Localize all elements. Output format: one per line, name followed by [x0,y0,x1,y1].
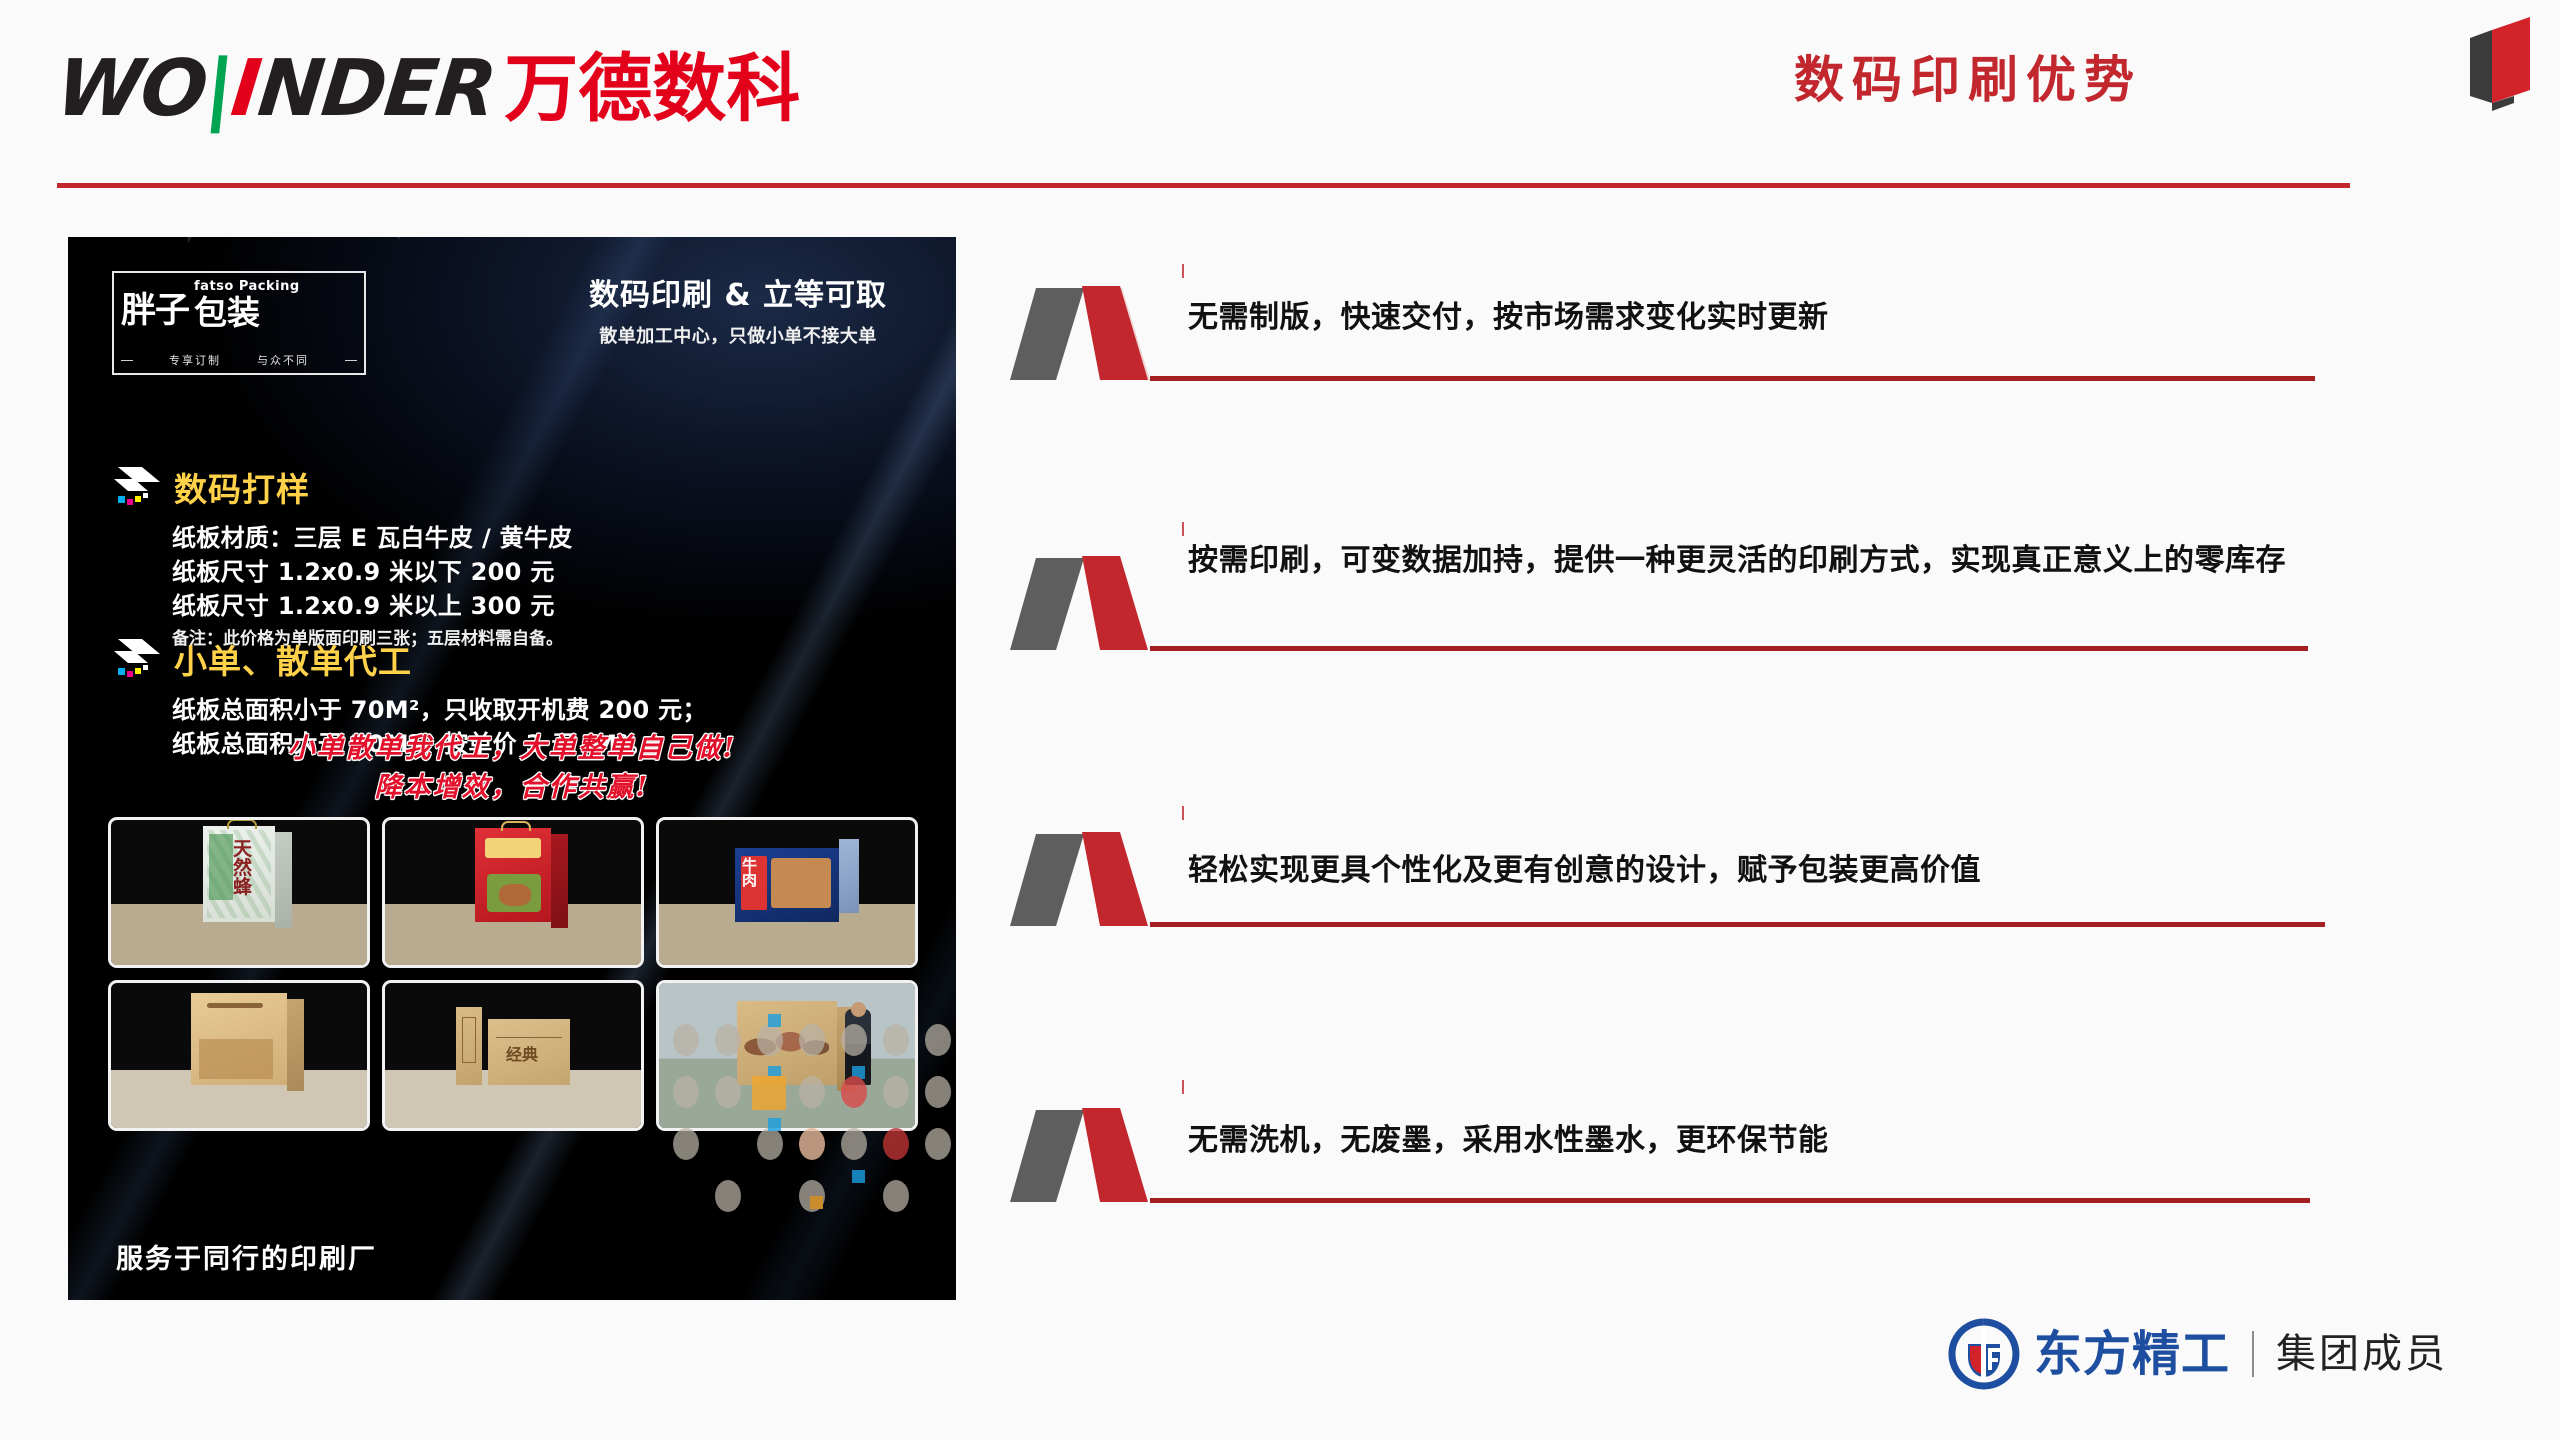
group-logo-divider [2252,1331,2254,1377]
poster-section-1-line-3: 纸板尺寸 1.2x0.9 米以上 300 元 [172,589,912,623]
poster-slogan-line-1: 小单散单我代工，大单整单自己做! [112,729,912,768]
gallery-item: 经典 [382,980,644,1131]
chevron-arrow-icon [112,637,168,685]
fatso-logo-cn-right: 包装 [194,296,300,329]
poster-section-2-title: 小单、散单代工 [174,645,412,678]
group-logo: 东方精工 集团成员 [1948,1318,2448,1390]
poster-slogan-line-2: 降本增效，合作共赢! [112,768,912,807]
advantage-item[interactable]: 无需制版，快速交付，按市场需求变化实时更新 [1010,250,2410,430]
poster-section-1-line-1: 纸板材质：三层 E 瓦白牛皮 / 黄牛皮 [172,521,912,555]
gallery-item [382,817,644,968]
poster-section-1-header: 数码打样 [112,465,912,513]
poster-section-1-line-2: 纸板尺寸 1.2x0.9 米以下 200 元 [172,555,912,589]
gallery-item [108,980,370,1131]
page-title: 数码印刷优势 [1794,40,2142,112]
brand-logo-inner: WO|INDER 万德数科 [57,50,800,128]
poster-headline-block: 数码印刷 & 立等可取 散单加工中心，只做小单不接大单 [538,279,938,348]
poster-subheadline: 散单加工中心，只做小单不接大单 [538,322,938,348]
bullet-tick [1182,522,1184,536]
brand-logo: WO|INDER 万德数科 [57,28,817,148]
advantage-underline [1150,1198,2310,1203]
poster-footer-text: 服务于同行的印刷厂 [116,1237,377,1276]
dfjg-emblem-icon [1948,1318,2020,1390]
poster-section-2-header: 小单、散单代工 [112,637,912,685]
dot-pattern-decoration [656,1000,956,1300]
advantage-underline [1150,646,2308,651]
advantage-text: 无需洗机，无废墨，采用水性墨水，更环保节能 [1188,1118,2368,1163]
advantage-underline [1150,922,2325,927]
book-mark-icon [2452,8,2538,123]
poster-slogan: 小单散单我代工，大单整单自己做! 降本增效，合作共赢! [112,729,912,807]
fatso-logo-row: 胖子 fatso Packing 包装 [114,273,364,329]
slide-root: WO|INDER 万德数科 数码印刷优势 胖子 fatso Packing 包装… [0,0,2560,1440]
poster-section-2-line-1: 纸板总面积小于 70M²，只收取开机费 200 元； [172,693,912,727]
fatso-logo-en: fatso Packing [194,280,300,293]
product-box: 牛肉 [735,848,839,922]
double-slash-bullet-icon [1010,830,1158,930]
poster-headline: 数码印刷 & 立等可取 [538,279,938,312]
brand-wordmark-en: WO|INDER [53,50,498,128]
fatso-tagline-right: 与众不同 [257,352,309,368]
bullet-tick [1182,264,1184,278]
advantage-text: 轻松实现更具个性化及更有创意的设计，赋予包装更高价值 [1188,848,2368,893]
gallery-item: 天然蜂 [108,817,370,968]
fatso-tagline-left: 专享订制 [169,352,221,368]
bullet-tick [1182,1080,1184,1094]
fatso-logo-tagline: 专享订制 与众不同 [121,352,357,368]
double-slash-bullet-icon [1010,1106,1158,1206]
fatso-logo: 胖子 fatso Packing 包装 专享订制 与众不同 [112,271,366,375]
header-divider [57,183,2350,188]
bullet-tick [1182,806,1184,820]
fatso-logo-right: fatso Packing 包装 [194,280,300,329]
advantage-text: 按需印刷，可变数据加持，提供一种更灵活的印刷方式，实现真正意义上的零库存 [1188,538,2368,583]
poster-section-1: 数码打样 纸板材质：三层 E 瓦白牛皮 / 黄牛皮 纸板尺寸 1.2x0.9 米… [112,465,912,653]
advantage-item[interactable]: 轻松实现更具个性化及更有创意的设计，赋予包装更高价值 [1010,830,2410,1010]
group-logo-member: 集团成员 [2276,1334,2448,1374]
advantage-item[interactable]: 按需印刷，可变数据加持，提供一种更灵活的印刷方式，实现真正意义上的零库存 [1010,512,2410,732]
brand-wordmark-cn: 万德数科 [504,52,800,126]
product-box [191,993,287,1085]
poster-section-1-title: 数码打样 [174,473,310,506]
chevron-arrow-icon [112,465,168,513]
fatso-logo-cn-left: 胖子 [121,294,189,329]
advantage-item[interactable]: 无需洗机，无废墨，采用水性墨水，更环保节能 [1010,1060,2410,1250]
group-logo-name: 东方精工 [2034,1330,2230,1378]
double-slash-bullet-icon [1010,284,1158,384]
gallery-row-1: 天然蜂 [108,817,918,968]
promo-poster: 胖子 fatso Packing 包装 专享订制 与众不同 数码印刷 & 立等可… [68,237,956,1300]
poster-section-1-body: 纸板材质：三层 E 瓦白牛皮 / 黄牛皮 纸板尺寸 1.2x0.9 米以下 20… [172,521,912,653]
gallery-item: 牛肉 [656,817,918,968]
double-slash-bullet-icon [1010,554,1158,654]
advantage-text: 无需制版，快速交付，按市场需求变化实时更新 [1188,295,2368,340]
product-box: 经典 [456,1007,570,1085]
advantage-underline [1150,376,2315,381]
product-box [475,828,551,922]
product-box: 天然蜂 [203,826,275,922]
